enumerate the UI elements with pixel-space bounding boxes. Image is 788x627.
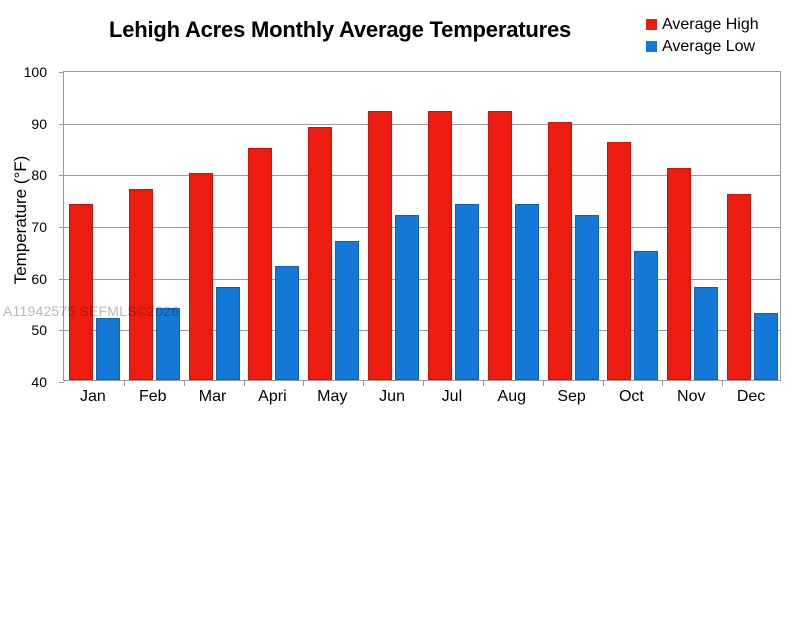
bar-group[interactable]: [308, 72, 359, 380]
x-axis-tick-mark: [363, 380, 364, 386]
bar-average-high[interactable]: [189, 173, 213, 380]
y-axis-tick-label: 70: [7, 220, 47, 234]
bar-average-high[interactable]: [308, 127, 332, 380]
bar-average-low[interactable]: [96, 318, 120, 380]
bar-group[interactable]: [607, 72, 658, 380]
chart-title: Lehigh Acres Monthly Average Temperature…: [60, 17, 620, 43]
y-axis-tick-label: 80: [7, 168, 47, 182]
bar-average-high[interactable]: [368, 111, 392, 380]
bar-average-high[interactable]: [607, 142, 631, 380]
y-axis-tick-mark: [59, 279, 64, 280]
x-axis-tick-mark: [184, 380, 185, 386]
bar-average-high[interactable]: [129, 189, 153, 380]
bar-average-low[interactable]: [515, 204, 539, 380]
y-axis-tick-mark: [59, 72, 64, 73]
bar-average-low[interactable]: [694, 287, 718, 380]
bar-group[interactable]: [189, 72, 240, 380]
plot-area: 100908070605040: [63, 71, 781, 381]
bar-average-high[interactable]: [69, 204, 93, 380]
bar-average-low[interactable]: [335, 241, 359, 381]
bar-group[interactable]: [667, 72, 718, 380]
y-axis-tick-mark: [59, 124, 64, 125]
bar-average-low[interactable]: [634, 251, 658, 380]
bar-group[interactable]: [727, 72, 778, 380]
bar-average-high[interactable]: [428, 111, 452, 380]
x-axis-tick-mark: [603, 380, 604, 386]
bar-average-high[interactable]: [667, 168, 691, 380]
x-axis-tick-label: Dec: [711, 388, 788, 406]
y-axis-tick-mark: [59, 227, 64, 228]
x-axis-tick-mark: [483, 380, 484, 386]
bar-average-low[interactable]: [216, 287, 240, 380]
bar-group[interactable]: [248, 72, 299, 380]
y-axis-tick-label: 50: [7, 323, 47, 337]
chart-legend: Average HighAverage Low: [646, 14, 786, 58]
bar-group[interactable]: [488, 72, 539, 380]
y-axis-tick-label: 100: [7, 65, 47, 79]
bar-group[interactable]: [368, 72, 419, 380]
y-axis-tick-label: 90: [7, 117, 47, 131]
bar-average-low[interactable]: [455, 204, 479, 380]
x-axis-tick-mark: [124, 380, 125, 386]
legend-item-label: Average High: [662, 16, 759, 34]
y-axis-tick-label: 40: [7, 375, 47, 389]
bar-average-low[interactable]: [156, 308, 180, 380]
x-axis-tick-mark: [543, 380, 544, 386]
bar-group[interactable]: [129, 72, 180, 380]
bar-average-high[interactable]: [248, 148, 272, 381]
legend-item-label: Average Low: [662, 38, 755, 56]
bar-average-high[interactable]: [727, 194, 751, 380]
bar-average-high[interactable]: [488, 111, 512, 380]
bar-group[interactable]: [69, 72, 120, 380]
bar-average-low[interactable]: [275, 266, 299, 380]
bar-group[interactable]: [548, 72, 599, 380]
bar-average-low[interactable]: [395, 215, 419, 380]
legend-swatch-icon: [646, 41, 657, 52]
legend-swatch-icon: [646, 19, 657, 30]
bar-group[interactable]: [428, 72, 479, 380]
x-axis-tick-mark: [244, 380, 245, 386]
bar-average-low[interactable]: [575, 215, 599, 380]
y-axis-tick-mark: [59, 382, 64, 383]
y-axis-tick-mark: [59, 175, 64, 176]
legend-item[interactable]: Average High: [646, 14, 786, 35]
y-axis-tick-mark: [59, 330, 64, 331]
temperature-bar-chart: Lehigh Acres Monthly Average Temperature…: [0, 0, 788, 627]
x-axis-tick-mark: [303, 380, 304, 386]
bar-average-high[interactable]: [548, 122, 572, 380]
x-axis-tick-mark: [423, 380, 424, 386]
legend-item[interactable]: Average Low: [646, 36, 786, 57]
x-axis-tick-mark: [722, 380, 723, 386]
y-axis-tick-label: 60: [7, 272, 47, 286]
bar-average-low[interactable]: [754, 313, 778, 380]
x-axis-tick-mark: [662, 380, 663, 386]
